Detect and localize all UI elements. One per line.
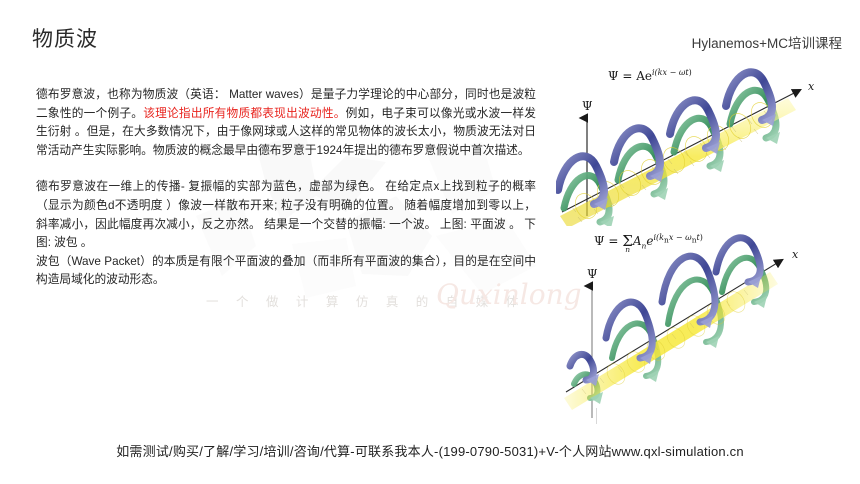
page-title: 物质波 xyxy=(32,23,98,53)
paragraph-propagation: 德布罗意波在一维上的传播- 复振幅的实部为蓝色，虚部为绿色。 在给定点x上找到粒… xyxy=(36,178,536,252)
slide-canvas: 一 个 做 计 算 仿 真 的 自 媒 体 Quxinlong 物质波 Hyla… xyxy=(0,0,860,484)
plane-wave-x-label: x xyxy=(808,80,815,93)
paragraph-intro: 德布罗意波，也称为物质波（英语： Matter waves）是量子力学理论的中心… xyxy=(36,86,536,160)
wave-packet-x-label: x xyxy=(792,248,799,261)
plane-wave-diagram: Ψ x xyxy=(556,66,856,226)
wave-packet-psi-label: Ψ xyxy=(587,267,598,281)
wave-packet-figure: Ψ = ΣnAnei(knx − ωnt) xyxy=(556,232,856,422)
plane-wave-psi-label: Ψ xyxy=(582,99,593,113)
course-tag: Hylanemos+MC培训课程 xyxy=(692,32,842,52)
watermark-tagline: 一 个 做 计 算 仿 真 的 自 媒 体 xyxy=(206,291,525,310)
footer-contact: 如需测试/购买/了解/学习/培训/咨询/代算-可联系我本人-(199-0790-… xyxy=(0,441,860,460)
probability-packet-tube xyxy=(564,272,778,410)
body-text-column: 德布罗意波，也称为物质波（英语： Matter waves）是量子力学理论的中心… xyxy=(36,86,536,290)
wave-packet-diagram: Ψ x xyxy=(556,232,856,422)
paragraph-wave-packet: 波包（Wave Packet）的本质是有限个平面波的叠加（而非所有平面波的集合）… xyxy=(36,253,536,290)
paragraph-1-highlight: 该理论指出所有物质都表现出波动性。 xyxy=(143,107,345,120)
plane-wave-figure: Ψ = Aei(kx − ωt) xyxy=(556,66,856,226)
